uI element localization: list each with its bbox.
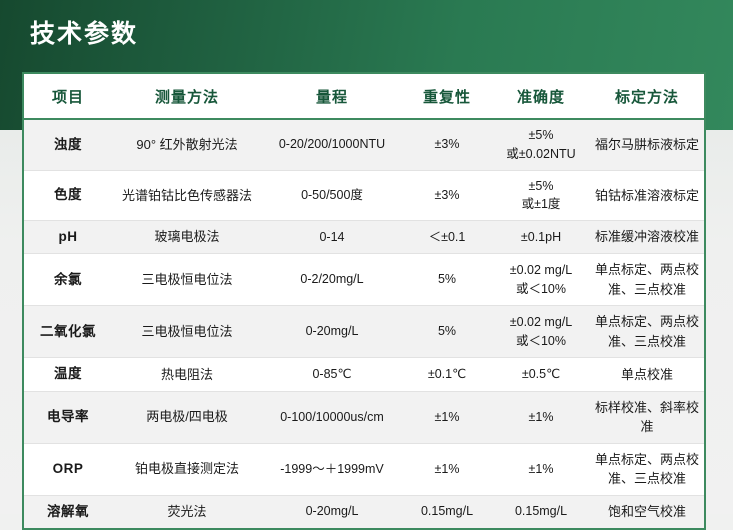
cell-item-line-1: 浊度 <box>27 135 109 155</box>
technical-parameters-table: 项目 测量方法 量程 重复性 准确度 标定方法 浊度90° 红外散射光法0-20… <box>24 74 704 528</box>
cell-range-line-1: 0-20mg/L <box>265 502 399 521</box>
cell-accuracy-line-2: 或±1度 <box>495 195 587 214</box>
cell-item: 电导率 <box>24 391 112 443</box>
cell-accuracy: ±5%或±1度 <box>492 170 590 221</box>
cell-repeatability: 5% <box>402 254 492 306</box>
cell-method-line-1: 三电极恒电位法 <box>115 322 259 342</box>
cell-accuracy: ±1% <box>492 391 590 443</box>
cell-method-line-1: 热电阻法 <box>115 365 259 385</box>
cell-method-line-1: 铂电极直接测定法 <box>115 459 259 479</box>
cell-repeatability-line-1: 5% <box>405 270 489 289</box>
cell-accuracy-line-1: ±5% <box>495 177 587 196</box>
cell-accuracy-line-2: 或±0.02NTU <box>495 145 587 164</box>
cell-item: ORP <box>24 443 112 495</box>
cell-accuracy: ±0.02 mg/L或＜10% <box>492 254 590 306</box>
cell-range-line-1: 0-85℃ <box>265 365 399 384</box>
cell-range-line-1: 0-50/500度 <box>265 186 399 205</box>
cell-calibration-line-2: 准、三点校准 <box>593 280 701 300</box>
cell-calibration: 福尔马肼标液标定 <box>590 119 704 170</box>
cell-range: 0-14 <box>262 221 402 254</box>
table-row: 电导率两电极/四电极0-100/10000us/cm±1%±1%标样校准、斜率校… <box>24 391 704 443</box>
cell-method-line-1: 玻璃电极法 <box>115 227 259 247</box>
cell-repeatability: ±1% <box>402 391 492 443</box>
cell-repeatability-line-1: 0.15mg/L <box>405 502 489 521</box>
column-header-accuracy: 准确度 <box>492 74 590 119</box>
cell-accuracy-line-1: 0.15mg/L <box>495 502 587 521</box>
cell-range-line-1: 0-100/10000us/cm <box>265 408 399 427</box>
cell-method: 铂电极直接测定法 <box>112 443 262 495</box>
table-row: 浊度90° 红外散射光法0-20/200/1000NTU±3%±5%或±0.02… <box>24 119 704 170</box>
cell-item-line-1: 色度 <box>27 185 109 205</box>
cell-accuracy-line-1: ±1% <box>495 460 587 479</box>
cell-item-line-1: 二氧化氯 <box>27 322 109 342</box>
cell-accuracy-line-1: ±5% <box>495 126 587 145</box>
cell-repeatability-line-1: ±1% <box>405 460 489 479</box>
cell-repeatability-line-1: ±1% <box>405 408 489 427</box>
cell-calibration: 饱和空气校准 <box>590 495 704 528</box>
cell-calibration-line-1: 福尔马肼标液标定 <box>593 135 701 155</box>
cell-repeatability: 0.15mg/L <box>402 495 492 528</box>
cell-accuracy: ±0.02 mg/L或＜10% <box>492 306 590 358</box>
cell-repeatability: ±3% <box>402 170 492 221</box>
cell-accuracy-line-1: ±0.1pH <box>495 228 587 247</box>
cell-calibration: 铂钴标准溶液标定 <box>590 170 704 221</box>
cell-repeatability: ±1% <box>402 443 492 495</box>
table-row: 色度光谱铂钴比色传感器法0-50/500度±3%±5%或±1度铂钴标准溶液标定 <box>24 170 704 221</box>
cell-item-line-1: 温度 <box>27 364 109 384</box>
cell-method: 光谱铂钴比色传感器法 <box>112 170 262 221</box>
cell-method: 荧光法 <box>112 495 262 528</box>
cell-calibration-line-1: 单点标定、两点校 <box>593 312 701 332</box>
cell-range: 0-2/20mg/L <box>262 254 402 306</box>
cell-method: 玻璃电极法 <box>112 221 262 254</box>
table-row: pH玻璃电极法0-14＜±0.1±0.1pH标准缓冲溶液校准 <box>24 221 704 254</box>
cell-range: 0-85℃ <box>262 358 402 391</box>
cell-repeatability-line-1: ±3% <box>405 186 489 205</box>
cell-calibration-line-1: 单点标定、两点校 <box>593 260 701 280</box>
cell-item: 余氯 <box>24 254 112 306</box>
cell-calibration: 单点校准 <box>590 358 704 391</box>
cell-accuracy-line-1: ±0.02 mg/L <box>495 261 587 280</box>
page-title: 技术参数 <box>30 14 138 54</box>
cell-method-line-1: 两电极/四电极 <box>115 407 259 427</box>
spec-table-container: 项目 测量方法 量程 重复性 准确度 标定方法 浊度90° 红外散射光法0-20… <box>22 72 706 530</box>
cell-repeatability: 5% <box>402 306 492 358</box>
cell-item-line-1: ORP <box>27 459 109 479</box>
cell-item: 溶解氧 <box>24 495 112 528</box>
column-header-range: 量程 <box>262 74 402 119</box>
cell-item: 温度 <box>24 358 112 391</box>
cell-method: 两电极/四电极 <box>112 391 262 443</box>
column-header-repeat: 重复性 <box>402 74 492 119</box>
cell-range: 0-50/500度 <box>262 170 402 221</box>
table-row: ORP铂电极直接测定法-1999～＋1999mV±1%±1%单点标定、两点校准、… <box>24 443 704 495</box>
cell-repeatability: ＜±0.1 <box>402 221 492 254</box>
table-row: 溶解氧荧光法0-20mg/L0.15mg/L0.15mg/L饱和空气校准 <box>24 495 704 528</box>
column-header-item: 项目 <box>24 74 112 119</box>
cell-method-line-1: 三电极恒电位法 <box>115 270 259 290</box>
cell-item: 二氧化氯 <box>24 306 112 358</box>
cell-item-line-1: 电导率 <box>27 407 109 427</box>
cell-accuracy: 0.15mg/L <box>492 495 590 528</box>
cell-range: 0-20mg/L <box>262 306 402 358</box>
cell-method: 三电极恒电位法 <box>112 306 262 358</box>
cell-calibration-line-2: 准 <box>593 417 701 437</box>
cell-calibration-line-1: 单点校准 <box>593 365 701 385</box>
cell-method: 90° 红外散射光法 <box>112 119 262 170</box>
table-row: 余氯三电极恒电位法0-2/20mg/L5%±0.02 mg/L或＜10%单点标定… <box>24 254 704 306</box>
cell-item-line-1: pH <box>27 227 109 247</box>
cell-calibration: 单点标定、两点校准、三点校准 <box>590 443 704 495</box>
cell-calibration: 单点标定、两点校准、三点校准 <box>590 306 704 358</box>
cell-accuracy: ±0.5℃ <box>492 358 590 391</box>
table-body: 浊度90° 红外散射光法0-20/200/1000NTU±3%±5%或±0.02… <box>24 119 704 528</box>
cell-item: pH <box>24 221 112 254</box>
table-row: 二氧化氯三电极恒电位法0-20mg/L5%±0.02 mg/L或＜10%单点标定… <box>24 306 704 358</box>
cell-accuracy-line-1: ±1% <box>495 408 587 427</box>
column-header-method: 测量方法 <box>112 74 262 119</box>
cell-calibration: 标样校准、斜率校准 <box>590 391 704 443</box>
table-header: 项目 测量方法 量程 重复性 准确度 标定方法 <box>24 74 704 119</box>
cell-range-line-1: 0-2/20mg/L <box>265 270 399 289</box>
cell-method-line-1: 90° 红外散射光法 <box>115 135 259 155</box>
cell-repeatability: ±0.1℃ <box>402 358 492 391</box>
cell-calibration-line-2: 准、三点校准 <box>593 332 701 352</box>
cell-range-line-1: 0-20/200/1000NTU <box>265 135 399 154</box>
cell-calibration-line-1: 铂钴标准溶液标定 <box>593 186 701 206</box>
cell-repeatability-line-1: ＜±0.1 <box>405 228 489 247</box>
table-header-row: 项目 测量方法 量程 重复性 准确度 标定方法 <box>24 74 704 119</box>
cell-method-line-1: 荧光法 <box>115 502 259 522</box>
cell-calibration: 标准缓冲溶液校准 <box>590 221 704 254</box>
cell-range-line-1: 0-14 <box>265 228 399 247</box>
column-header-calibration: 标定方法 <box>590 74 704 119</box>
table-row: 温度热电阻法0-85℃±0.1℃±0.5℃单点校准 <box>24 358 704 391</box>
cell-calibration-line-2: 准、三点校准 <box>593 469 701 489</box>
cell-accuracy: ±5%或±0.02NTU <box>492 119 590 170</box>
cell-item-line-1: 溶解氧 <box>27 502 109 522</box>
cell-item: 色度 <box>24 170 112 221</box>
cell-item: 浊度 <box>24 119 112 170</box>
cell-range: -1999～＋1999mV <box>262 443 402 495</box>
cell-calibration-line-1: 饱和空气校准 <box>593 502 701 522</box>
cell-range: 0-20mg/L <box>262 495 402 528</box>
cell-calibration: 单点标定、两点校准、三点校准 <box>590 254 704 306</box>
cell-accuracy-line-1: ±0.02 mg/L <box>495 313 587 332</box>
cell-repeatability-line-1: ±3% <box>405 135 489 154</box>
cell-accuracy: ±0.1pH <box>492 221 590 254</box>
cell-range: 0-100/10000us/cm <box>262 391 402 443</box>
cell-item-line-1: 余氯 <box>27 270 109 290</box>
cell-calibration-line-1: 标准缓冲溶液校准 <box>593 227 701 247</box>
cell-method: 三电极恒电位法 <box>112 254 262 306</box>
cell-repeatability-line-1: ±0.1℃ <box>405 365 489 384</box>
cell-range-line-1: 0-20mg/L <box>265 322 399 341</box>
cell-repeatability-line-1: 5% <box>405 322 489 341</box>
cell-accuracy-line-2: 或＜10% <box>495 280 587 299</box>
cell-range-line-1: -1999～＋1999mV <box>265 460 399 479</box>
cell-accuracy: ±1% <box>492 443 590 495</box>
cell-method-line-1: 光谱铂钴比色传感器法 <box>115 186 259 206</box>
cell-accuracy-line-2: 或＜10% <box>495 332 587 351</box>
cell-method: 热电阻法 <box>112 358 262 391</box>
cell-range: 0-20/200/1000NTU <box>262 119 402 170</box>
cell-repeatability: ±3% <box>402 119 492 170</box>
cell-calibration-line-1: 标样校准、斜率校 <box>593 398 701 418</box>
cell-calibration-line-1: 单点标定、两点校 <box>593 450 701 470</box>
cell-accuracy-line-1: ±0.5℃ <box>495 365 587 384</box>
